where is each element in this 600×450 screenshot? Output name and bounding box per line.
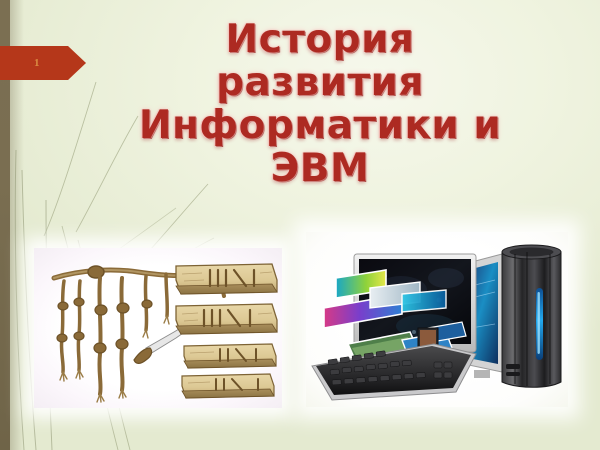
tally-sticks-group	[176, 264, 277, 398]
page-title: История развития Информатики и ЭВМ	[60, 18, 580, 190]
title-line-3: Информатики и	[60, 104, 580, 147]
tally-stick	[176, 304, 277, 334]
title-line-4: ЭВМ	[60, 147, 580, 190]
slide-canvas: 1 История развития Информатики и ЭВМ Узе…	[0, 0, 600, 450]
tally-stick	[182, 374, 274, 398]
tower-case-icon	[502, 245, 561, 387]
tally-stick	[176, 264, 277, 294]
title-line-2: развития	[60, 61, 580, 104]
title-line-1: История	[60, 18, 580, 61]
image-modern-computer: Современный персональный компьютер	[306, 232, 568, 407]
tally-stick	[184, 344, 276, 368]
image-quipu-and-tally-sticks: Узелковое письмо (кипу) и бирки с зарубк…	[34, 248, 282, 408]
keyboard-icon	[312, 344, 476, 400]
